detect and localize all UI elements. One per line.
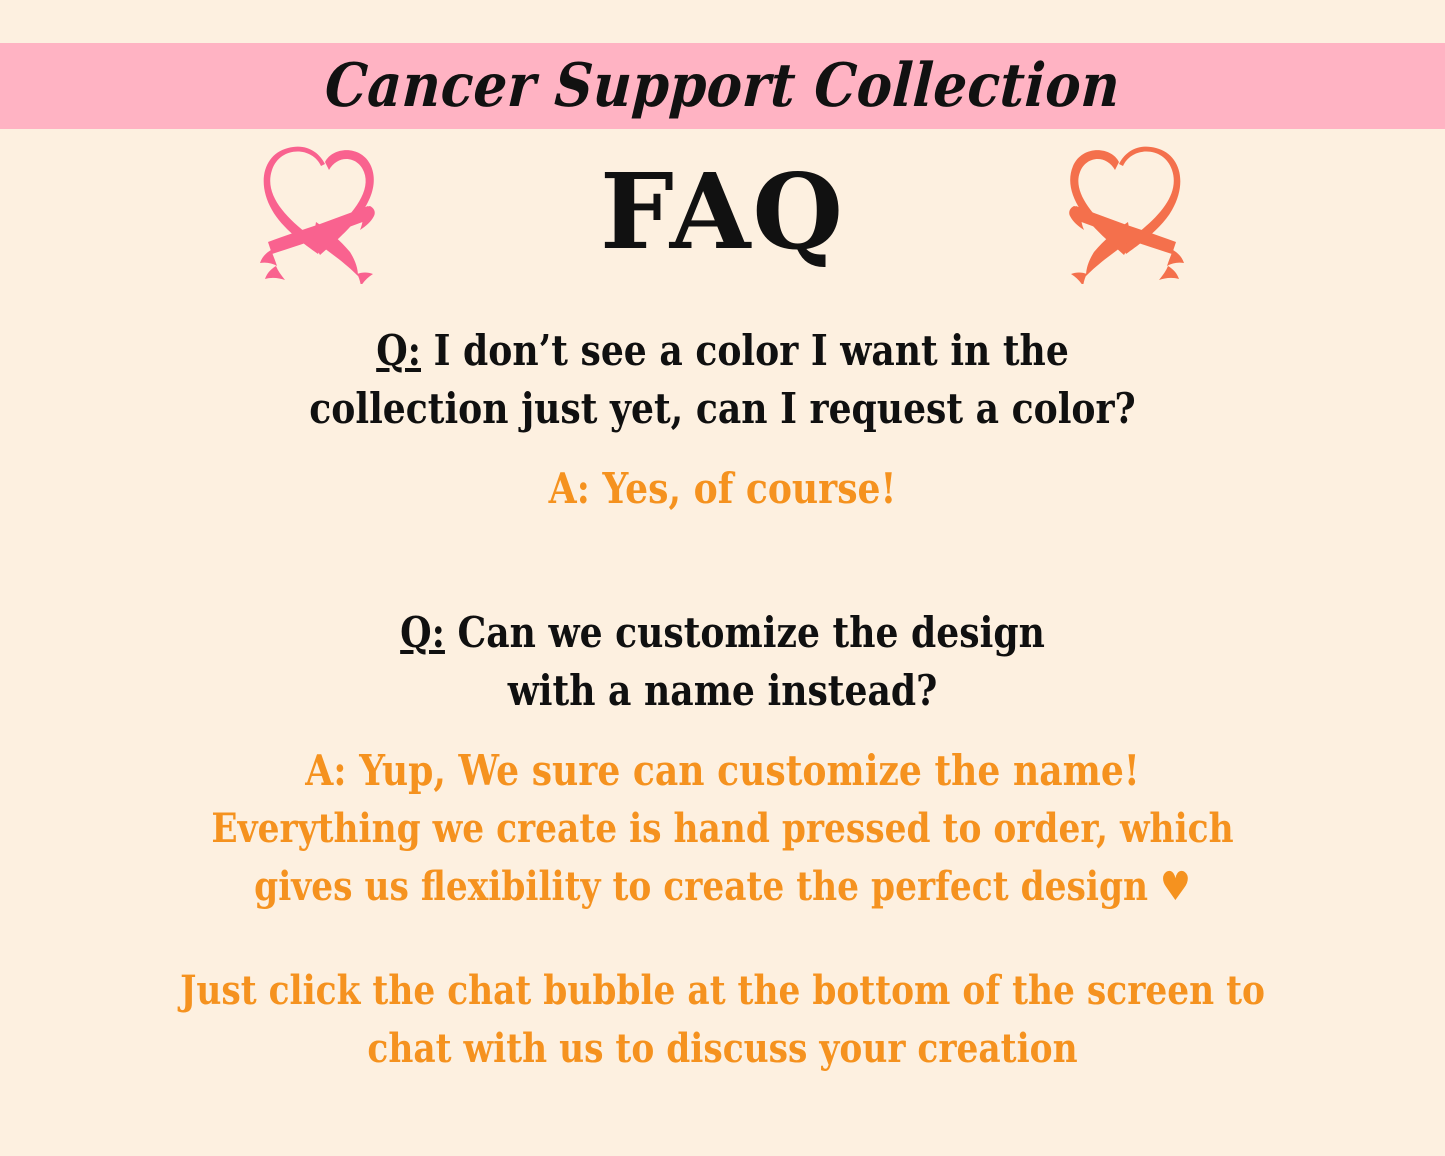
faq-page: Cancer Support Collection	[0, 0, 1445, 1156]
faq-item-2: Q: Can we customize the design with a na…	[0, 604, 1445, 916]
spacer	[0, 720, 1445, 742]
page-title: FAQ	[0, 157, 1445, 267]
faq-question-2-line-1-text: Can we customize the design	[445, 608, 1045, 657]
question-prefix: Q:	[376, 326, 421, 375]
faq-content: Q: I don’t see a color I want in the col…	[0, 322, 1445, 1078]
spacer	[0, 438, 1445, 460]
faq-item-1: Q: I don’t see a color I want in the col…	[0, 322, 1445, 518]
faq-answer-2-line-1: A: Yup, We sure can customize the name!	[101, 742, 1344, 800]
faq-question-1-line-1-text: I don’t see a color I want in the	[421, 326, 1069, 375]
spacer	[0, 518, 1445, 604]
question-prefix: Q:	[400, 608, 445, 657]
faq-question-1-line-2: collection just yet, can I request a col…	[101, 380, 1344, 438]
closing-message: Just click the chat bubble at the bottom…	[0, 962, 1445, 1078]
faq-question-2-line-1: Q: Can we customize the design	[101, 604, 1344, 662]
banner-title: Cancer Support Collection	[323, 56, 1122, 116]
faq-answer-2-line-2: Everything we create is hand pressed to …	[101, 800, 1344, 858]
header-banner: Cancer Support Collection	[0, 43, 1445, 129]
faq-question-1-line-1: Q: I don’t see a color I want in the	[101, 322, 1344, 380]
closing-line-1: Just click the chat bubble at the bottom…	[101, 962, 1344, 1020]
faq-question-2-line-2: with a name instead?	[101, 662, 1344, 720]
spacer	[0, 916, 1445, 962]
faq-answer-2-line-3: gives us flexibility to create the perfe…	[101, 858, 1344, 916]
faq-answer-1-line-1: A: Yes, of course!	[101, 460, 1344, 518]
closing-line-2: chat with us to discuss your creation	[101, 1020, 1344, 1078]
